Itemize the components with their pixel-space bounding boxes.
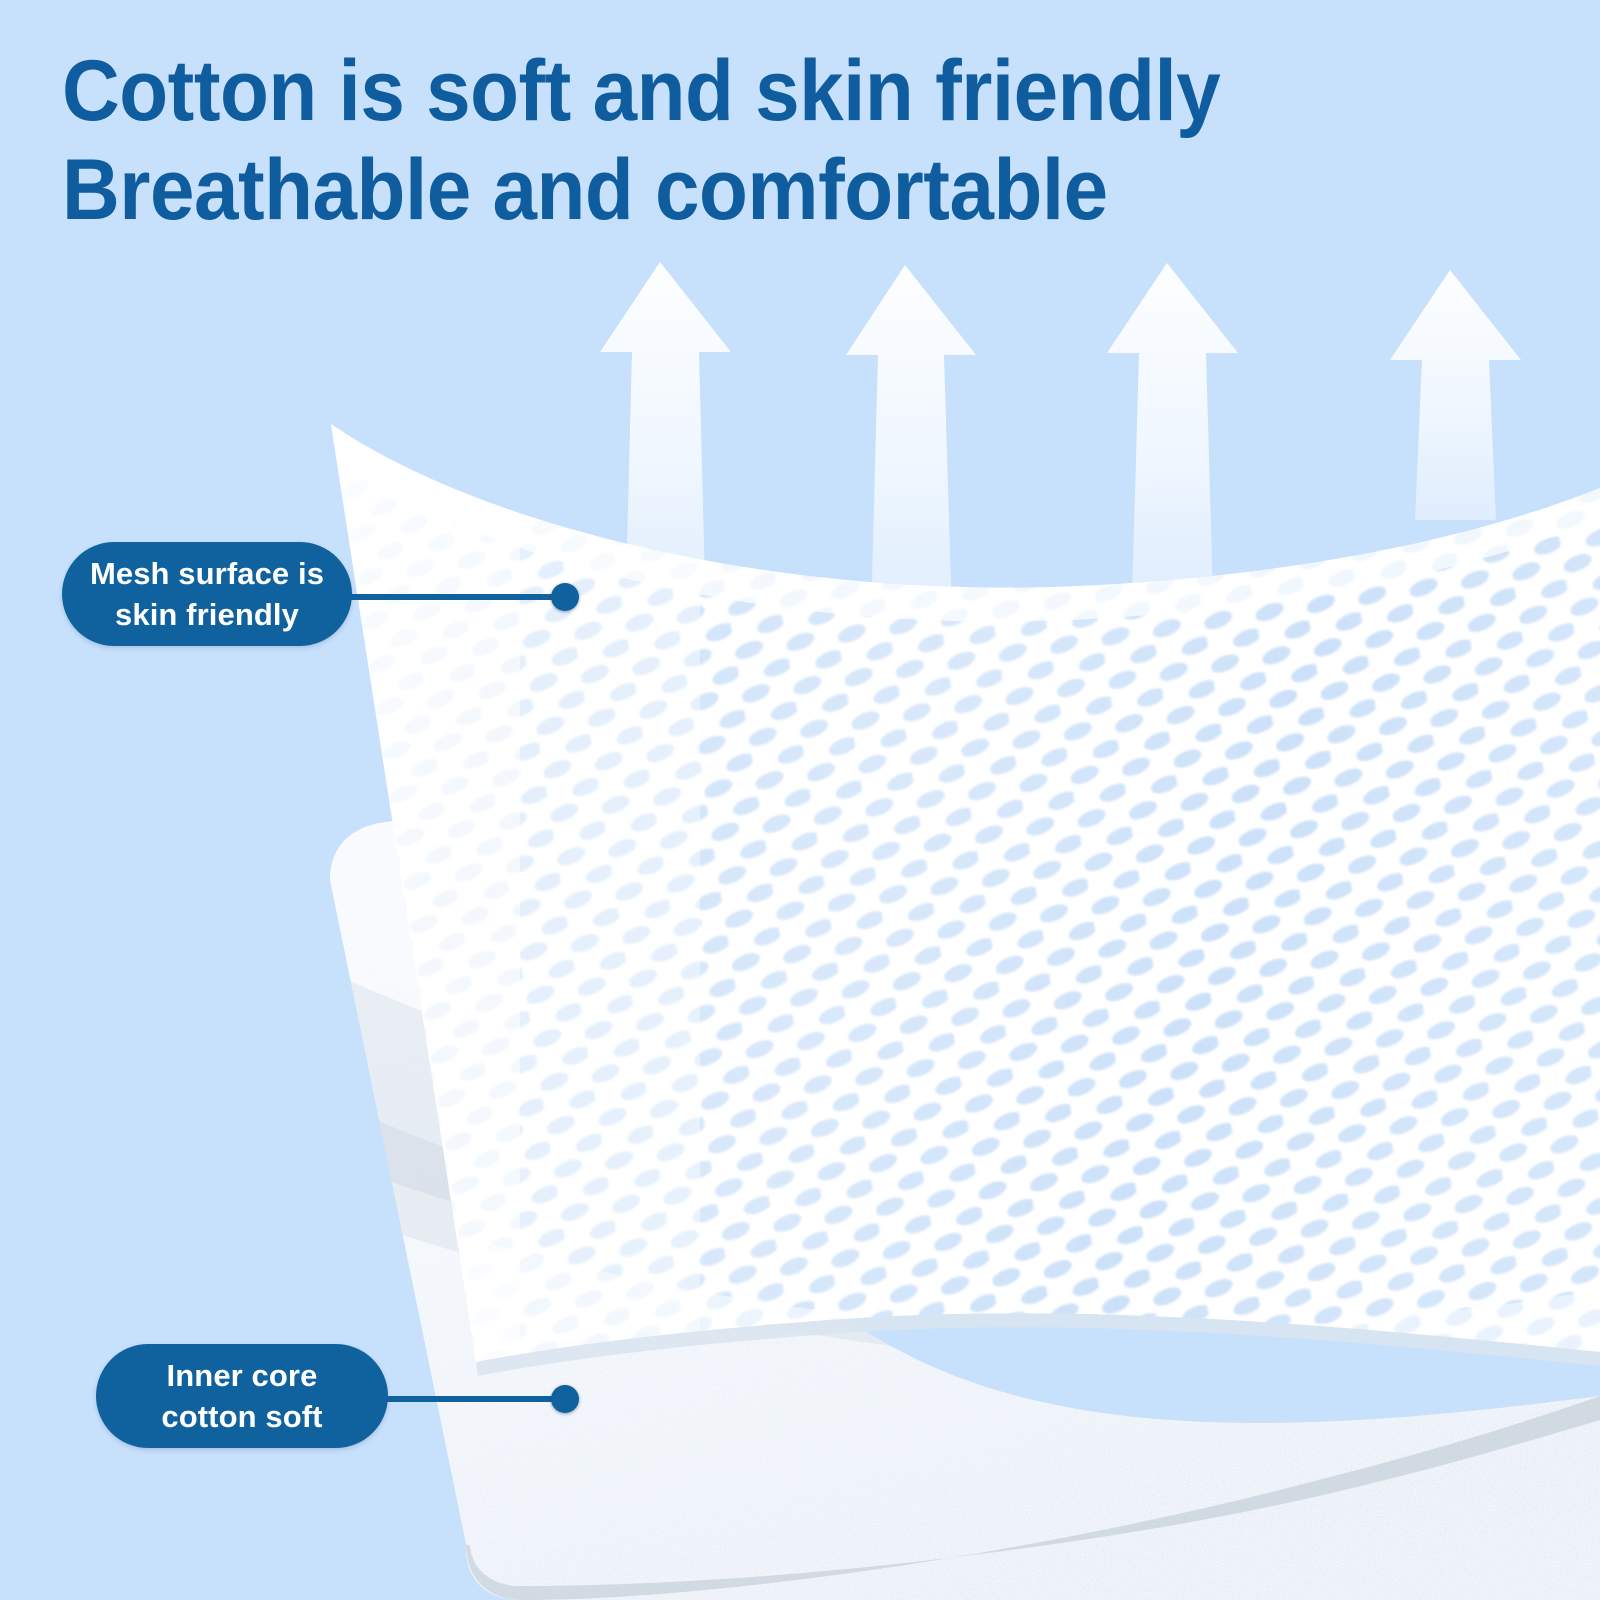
- callout-core-line-1: Inner core: [167, 1355, 318, 1396]
- product-infographic: Cotton is soft and skin friendly Breatha…: [0, 0, 1600, 1600]
- callout-mesh-line-2: skin friendly: [115, 594, 299, 635]
- leader-dot-icon: [551, 1385, 579, 1413]
- callout-core-line-2: cotton soft: [161, 1396, 322, 1437]
- mesh-top-sheet-layer: [300, 380, 1600, 1400]
- callout-pill-inner-core[interactable]: Inner core cotton soft: [96, 1344, 388, 1448]
- leader-dot-icon: [551, 583, 579, 611]
- callout-mesh-line-1: Mesh surface is: [90, 553, 324, 594]
- callout-pill-mesh-surface[interactable]: Mesh surface is skin friendly: [62, 542, 352, 646]
